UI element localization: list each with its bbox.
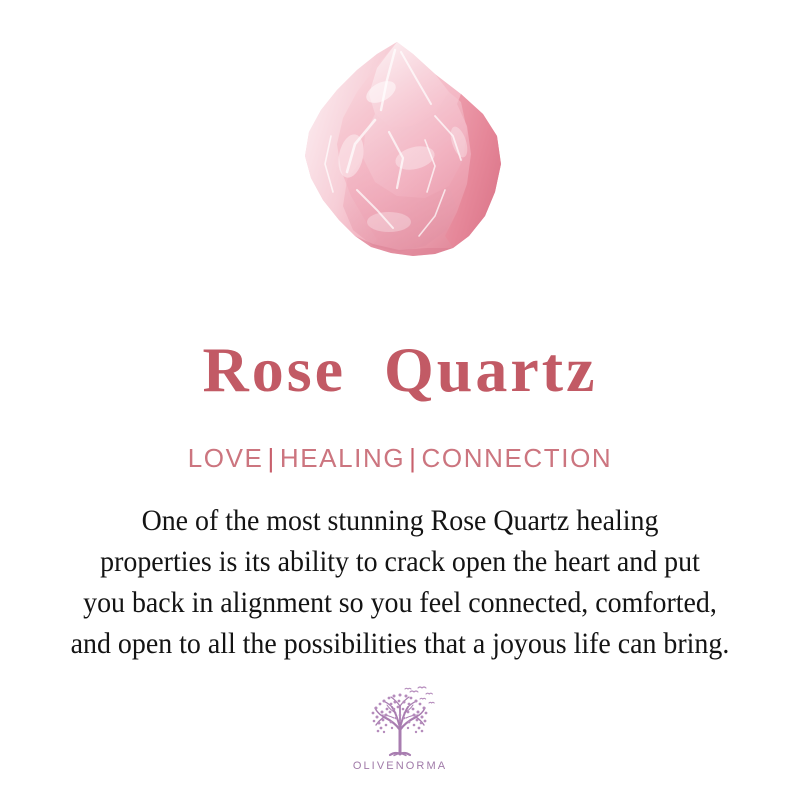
description-line-2: properties is its ability to crack open … bbox=[47, 541, 754, 582]
page-title: Rose Quartz bbox=[0, 338, 800, 402]
rose-quartz-crystal-photo bbox=[285, 40, 515, 280]
keyword-love: LOVE bbox=[188, 443, 264, 473]
rose-quartz-info-card: Rose Quartz LOVE|HEALING|CONNECTION One … bbox=[0, 0, 800, 800]
tree-of-life-icon bbox=[358, 684, 442, 758]
tree-birds bbox=[405, 687, 434, 703]
keyword-healing: HEALING bbox=[280, 443, 405, 473]
keyword-connection: CONNECTION bbox=[422, 443, 613, 473]
product-image-container bbox=[0, 40, 800, 290]
description-line-3: you back in alignment so you feel connec… bbox=[47, 582, 754, 623]
keyword-separator-2: | bbox=[405, 443, 421, 473]
description-line-1: One of the most stunning Rose Quartz hea… bbox=[47, 500, 754, 541]
brand-wordmark: OLIVENORMA bbox=[353, 760, 447, 772]
brand-logo: OLIVENORMA bbox=[0, 684, 800, 772]
keyword-line: LOVE|HEALING|CONNECTION bbox=[0, 444, 800, 473]
description-paragraph: One of the most stunning Rose Quartz hea… bbox=[20, 500, 780, 664]
keyword-separator-1: | bbox=[263, 443, 279, 473]
description-line-4: and open to all the possibilities that a… bbox=[47, 623, 754, 664]
